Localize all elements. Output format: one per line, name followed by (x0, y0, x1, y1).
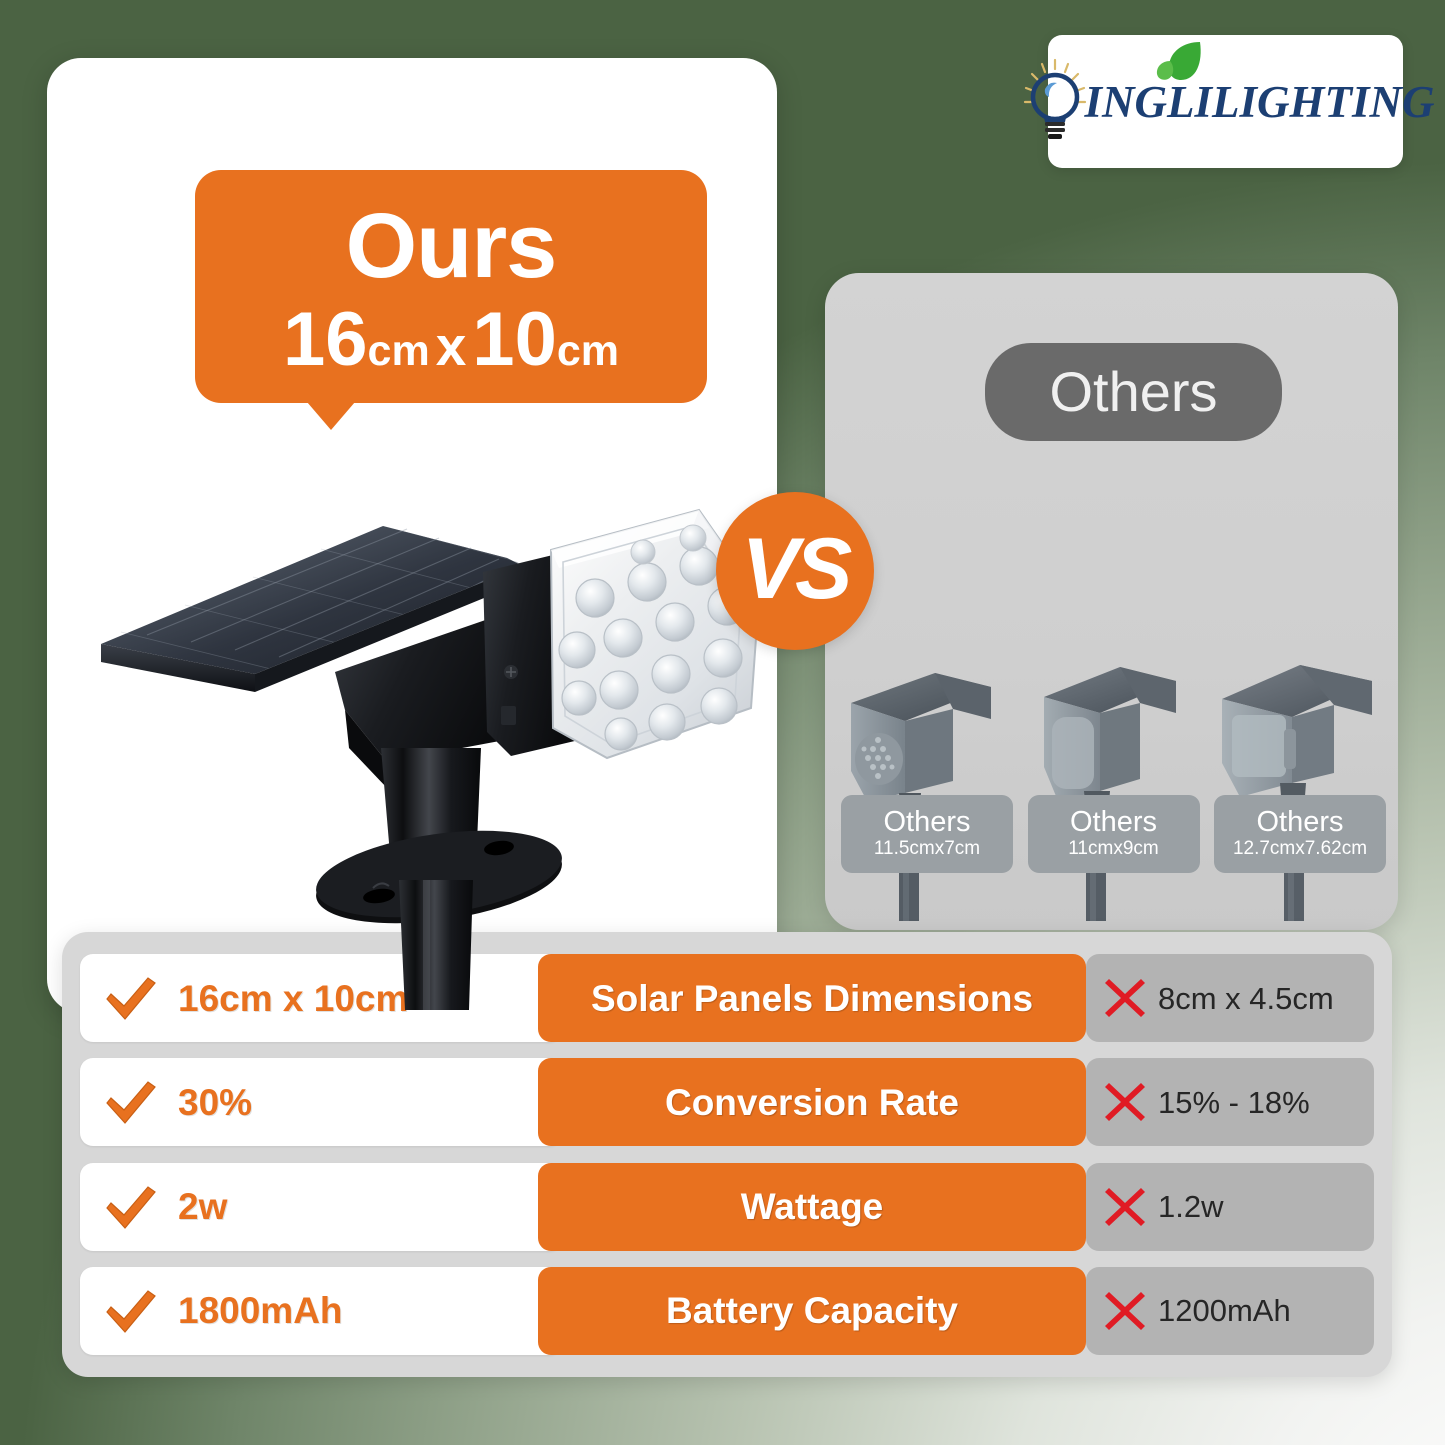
ours-badge-title: Ours (346, 200, 557, 292)
badge-tail (307, 402, 355, 430)
vs-label: VS (742, 526, 849, 612)
feature-cell: Wattage (538, 1163, 1086, 1251)
others-cell: 15% - 18% (1086, 1058, 1374, 1146)
table-row: 30% Conversion Rate 15% - 18% (80, 1058, 1374, 1146)
brand-name: INGLILIGHTING (1085, 76, 1435, 128)
others-value: 1.2w (1158, 1191, 1223, 1222)
ours-dim-unit-2: cm (557, 327, 619, 375)
ours-dim-unit-1: cm (368, 327, 430, 375)
ours-cell: 30% (80, 1058, 562, 1146)
leaf-icon (1154, 39, 1206, 85)
competitor-label: Others 11cmx9cm (1028, 795, 1200, 873)
brand-logo: INGLILIGHTING (1048, 35, 1403, 168)
others-cell: 1200mAh (1086, 1267, 1374, 1355)
competitor-lamp-illustration (1028, 651, 1200, 921)
ours-badge-dimensions: 16cmx10cm (283, 302, 619, 378)
ours-value: 2w (178, 1188, 227, 1225)
ours-dim-value-2: 10 (472, 297, 557, 382)
competitor-size: 11cmx9cm (1068, 838, 1158, 861)
feature-label: Battery Capacity (666, 1292, 958, 1329)
vs-badge: VS (716, 492, 874, 650)
ours-value: 1800mAh (178, 1292, 343, 1329)
table-row: 2w Wattage 1.2w (80, 1163, 1374, 1251)
competitor-item: Others 11.5cmx7cm (841, 651, 1013, 921)
competitor-item: Others 12.7cmx7.62cm (1214, 651, 1386, 921)
ours-dim-value-1: 16 (283, 297, 368, 382)
x-icon (1094, 1184, 1156, 1230)
others-value: 8cm x 4.5cm (1158, 983, 1334, 1014)
others-cell: 8cm x 4.5cm (1086, 954, 1374, 1042)
ours-value: 30% (178, 1084, 252, 1121)
ours-panel: Ours 16cmx10cm (47, 58, 777, 1013)
feature-cell: Battery Capacity (538, 1267, 1086, 1355)
others-header-label: Others (1049, 364, 1217, 420)
x-icon (1094, 975, 1156, 1021)
check-icon (94, 1181, 168, 1233)
competitor-item: Others 11cmx9cm (1028, 651, 1200, 921)
x-icon (1094, 1079, 1156, 1125)
ours-dim-separator: x (430, 315, 473, 377)
feature-label: Wattage (741, 1188, 884, 1225)
x-icon (1094, 1288, 1156, 1334)
feature-cell: Conversion Rate (538, 1058, 1086, 1146)
competitor-size: 11.5cmx7cm (874, 838, 980, 861)
table-row: 1800mAh Battery Capacity 1200mAh (80, 1267, 1374, 1355)
ours-cell: 1800mAh (80, 1267, 562, 1355)
competitor-name: Others (1256, 807, 1343, 837)
competitor-label: Others 12.7cmx7.62cm (1214, 795, 1386, 873)
competitor-size: 12.7cmx7.62cm (1233, 838, 1367, 861)
check-icon (94, 1076, 168, 1128)
others-header-pill: Others (985, 343, 1282, 441)
check-icon (94, 1285, 168, 1337)
ours-size-badge: Ours 16cmx10cm (195, 170, 707, 403)
infographic-canvas: Ours 16cmx10cm VS Others (0, 0, 1445, 1445)
competitor-name: Others (883, 807, 970, 837)
others-cell: 1.2w (1086, 1163, 1374, 1251)
ours-cell: 2w (80, 1163, 562, 1251)
ours-product-image (87, 410, 777, 1010)
others-value: 15% - 18% (1158, 1087, 1310, 1118)
others-value: 1200mAh (1158, 1295, 1291, 1326)
competitor-label: Others 11.5cmx7cm (841, 795, 1013, 873)
competitor-name: Others (1070, 807, 1157, 837)
others-panel: Others (825, 273, 1398, 930)
competitor-lamp-illustration (1214, 651, 1386, 921)
solar-spotlight-illustration (87, 410, 777, 1010)
feature-label: Conversion Rate (665, 1084, 959, 1121)
competitor-lamp-illustration (841, 651, 1013, 921)
competitor-products-row: Others 11.5cmx7cm (841, 651, 1386, 921)
lightbulb-leaf-icon (1017, 56, 1093, 148)
